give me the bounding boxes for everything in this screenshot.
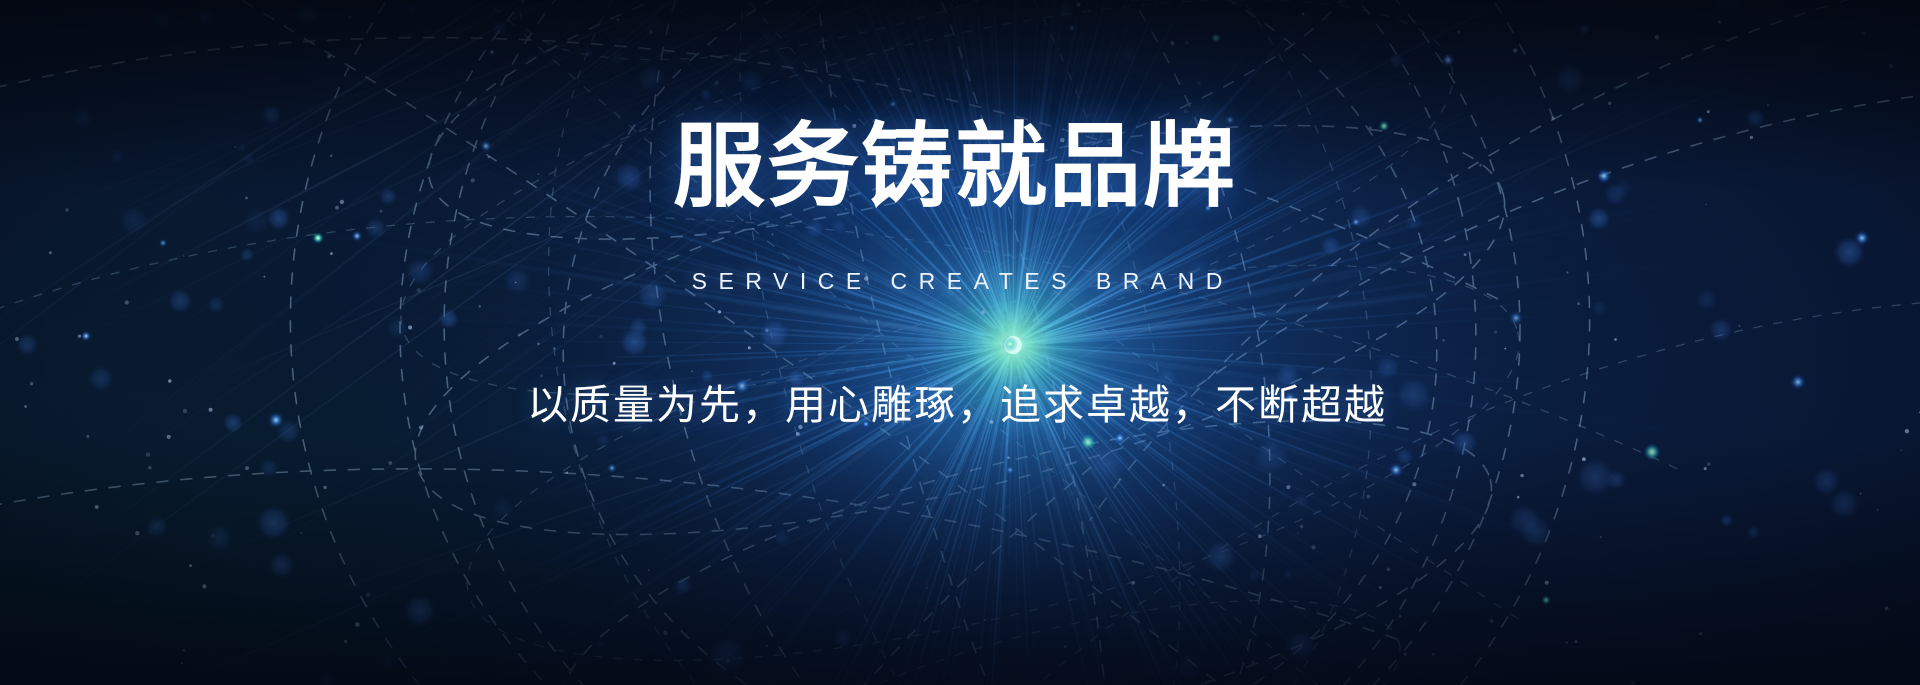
banner-subheadline: SERVICE CREATES BRAND <box>0 268 1920 295</box>
banner-tagline: 以质量为先，用心雕琢，追求卓越，不断超越 <box>0 380 1920 431</box>
hero-banner: 服务铸就品牌 SERVICE CREATES BRAND 以质量为先，用心雕琢，… <box>0 0 1920 685</box>
banner-headline: 服务铸就品牌 <box>0 121 1920 213</box>
banner-content: 服务铸就品牌 SERVICE CREATES BRAND 以质量为先，用心雕琢，… <box>0 0 1920 685</box>
